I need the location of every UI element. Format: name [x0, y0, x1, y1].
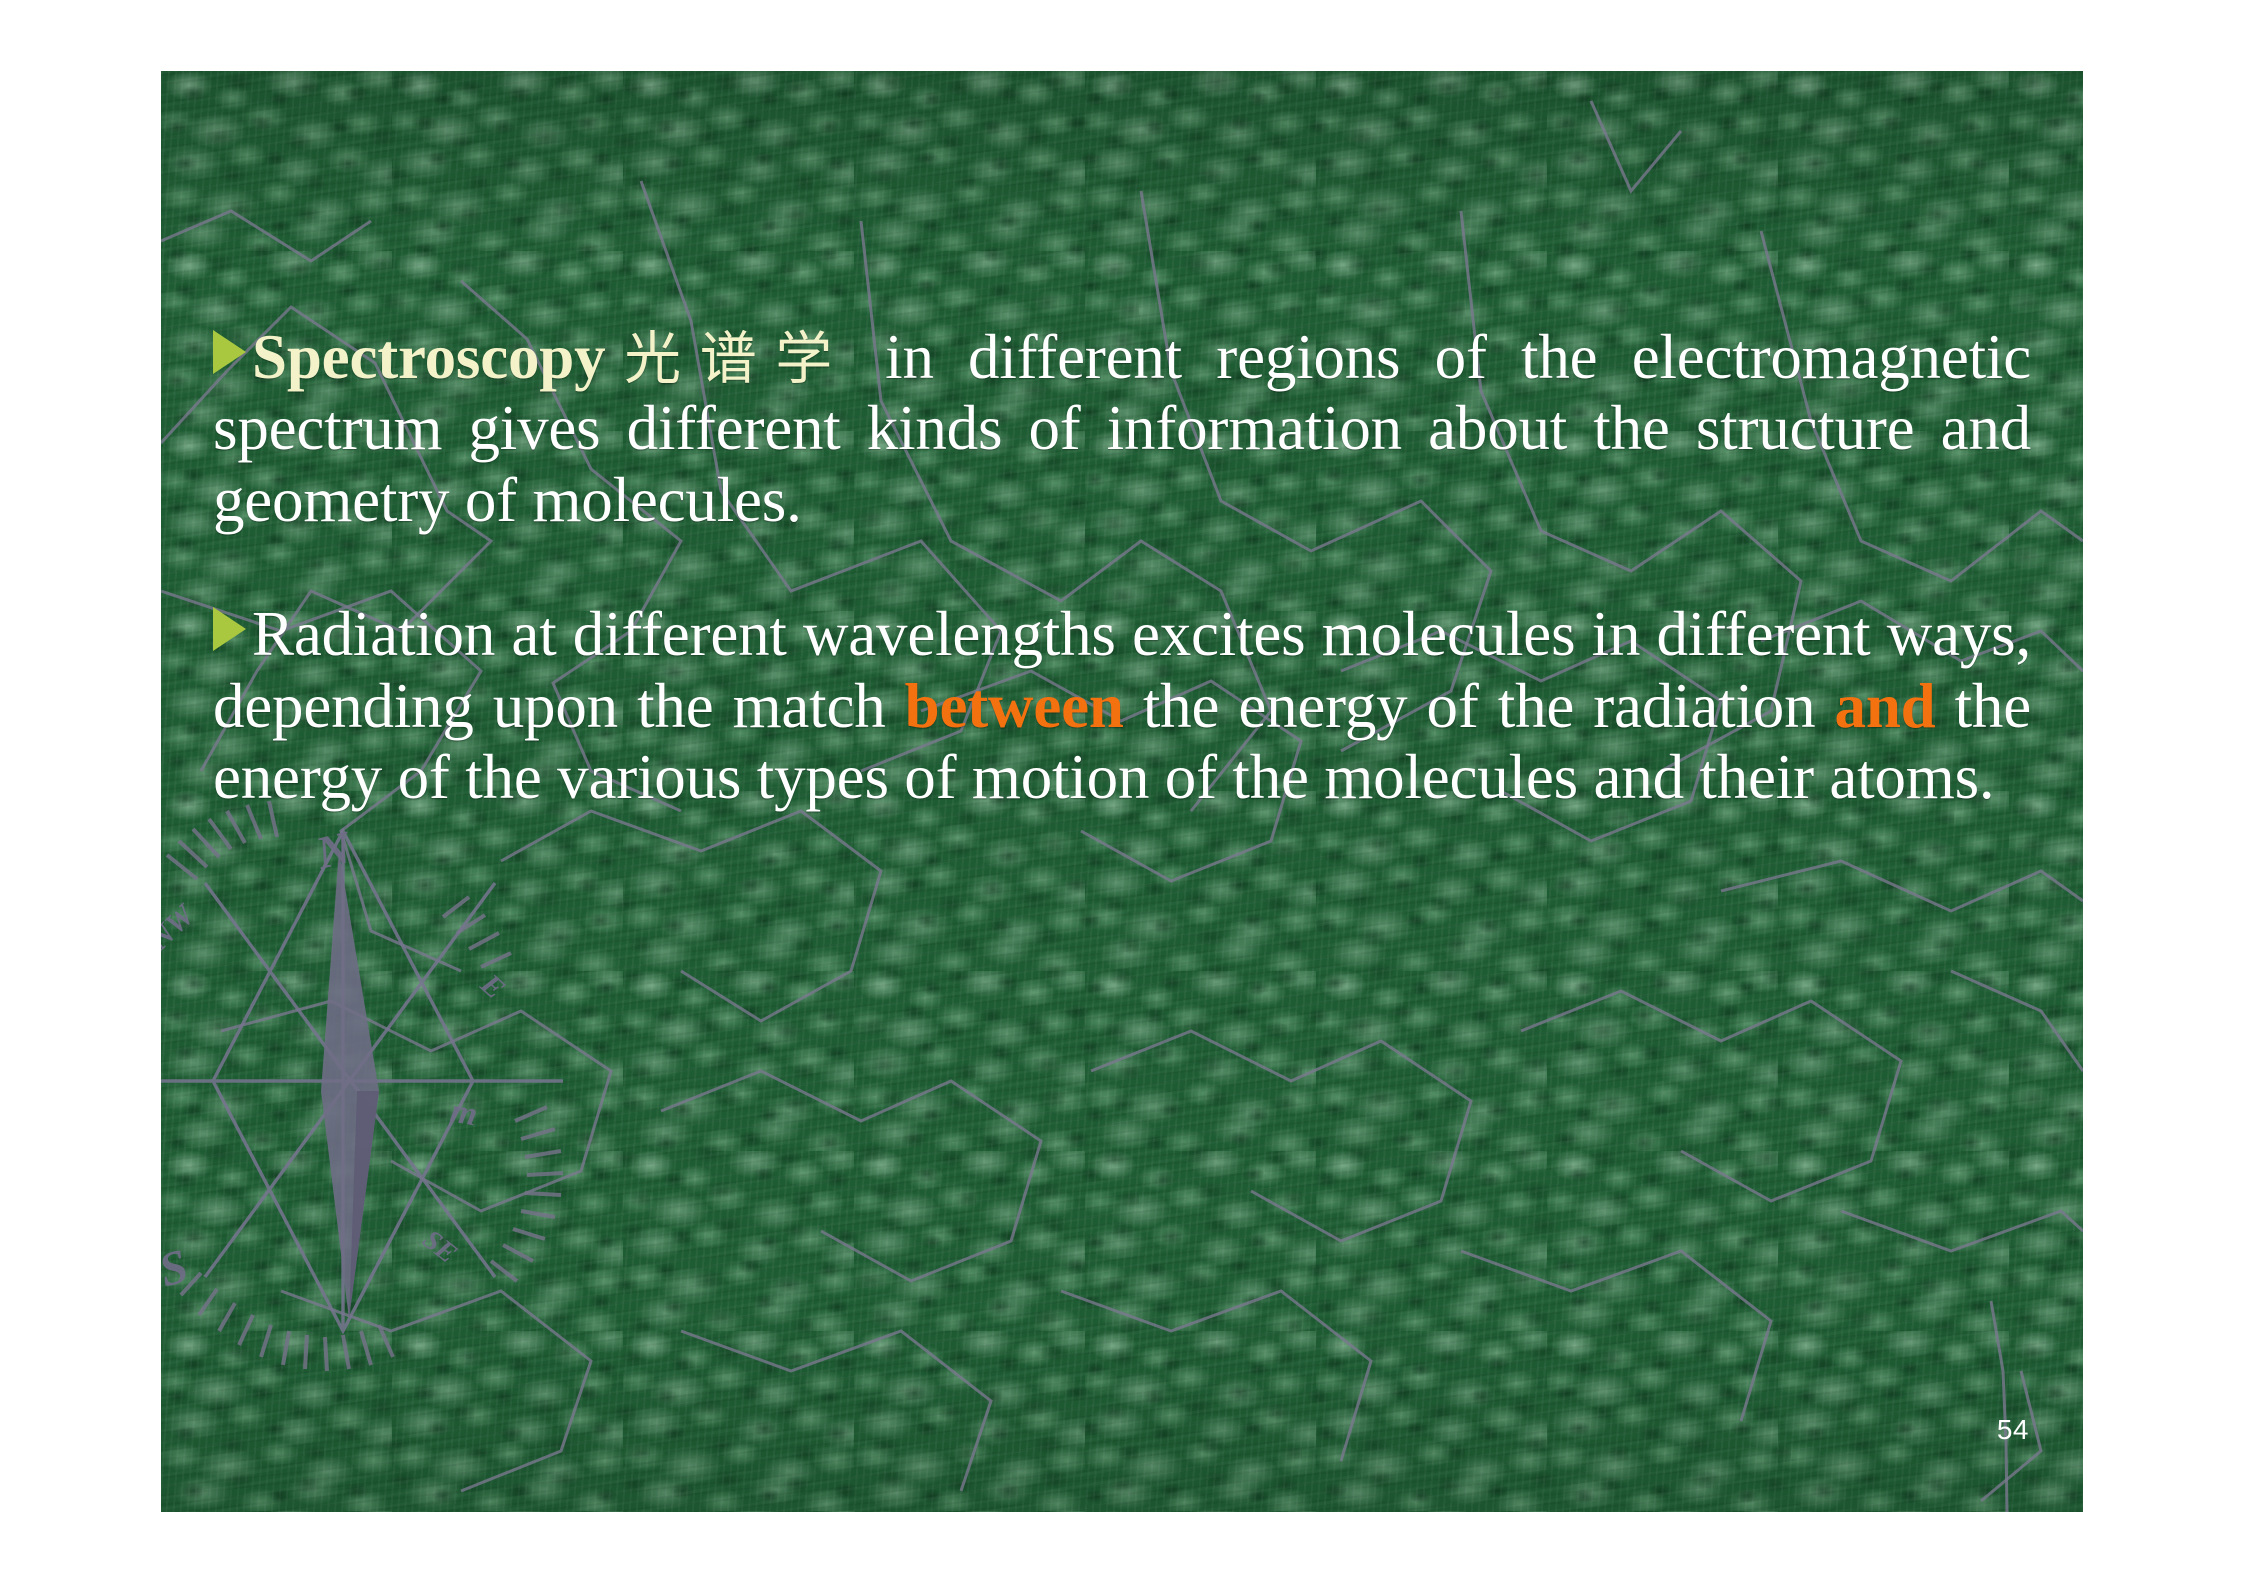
slide-canvas: N NW E SE S m Spectroscopy光谱学 in differe… [161, 71, 2083, 1512]
bullet-2-highlight-and: and [1835, 671, 1936, 741]
triangle-right-bullet-icon [213, 330, 246, 374]
triangle-right-bullet-icon [213, 607, 246, 651]
svg-text:S: S [161, 1239, 194, 1297]
bullet-1-keyword: Spectroscopy [252, 322, 605, 392]
bullet-2-highlight-between: between [905, 671, 1124, 741]
svg-text:NW: NW [161, 897, 202, 957]
bullet-2-mid: the energy of the radiation [1124, 671, 1835, 741]
bullet-item-2: Radiation at different wavelengths excit… [213, 599, 2031, 813]
bullet-1-keyword-chinese: 光谱学 [605, 326, 850, 392]
svg-text:E: E [474, 967, 512, 1006]
page-number: 54 [1997, 1414, 2029, 1446]
slide-body: Spectroscopy光谱学 in different regions of … [213, 259, 2031, 876]
svg-text:SE: SE [417, 1224, 463, 1270]
bullet-item-1: Spectroscopy光谱学 in different regions of … [213, 322, 2031, 536]
compass-rose-watermark: N NW E SE S m [161, 791, 603, 1411]
svg-text:m: m [448, 1092, 480, 1133]
